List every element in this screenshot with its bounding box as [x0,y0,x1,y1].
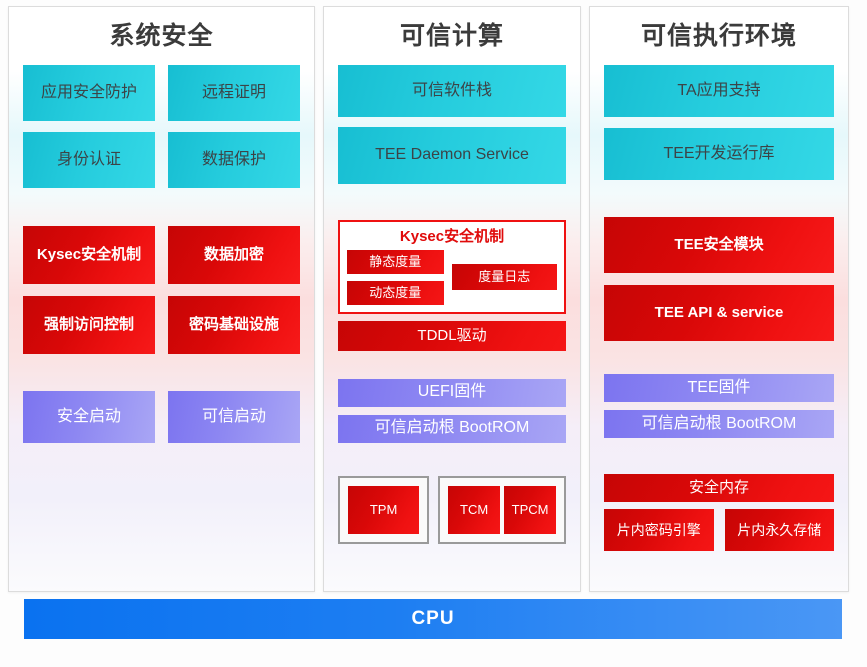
row-boot-layer: 安全启动 可信启动 [23,391,300,443]
block-tee-development-runtime-library[interactable]: TEE开发运行库 [604,128,834,180]
block-cpu[interactable]: CPU [24,599,842,639]
block-ta-application-support[interactable]: TA应用支持 [604,65,834,117]
tee-stack: TA应用支持 TEE开发运行库 TEE安全模块 TEE API & servic… [604,65,834,502]
block-trusted-boot[interactable]: 可信启动 [168,391,300,443]
block-crypto-infrastructure[interactable]: 密码基础设施 [168,296,300,354]
group-tpm: TPM [338,476,429,544]
columns-container: 系统安全 应用安全防护 远程证明 身份认证 数据保护 Kysec安全机制 数据加… [8,6,859,592]
block-static-measurement[interactable]: 静态度量 [347,250,444,274]
block-tpcm[interactable]: TPCM [504,486,556,534]
block-identity-authentication[interactable]: 身份认证 [23,132,155,188]
block-mandatory-access-control[interactable]: 强制访问控制 [23,296,155,354]
row-hardware-trust-modules: TPM TCM TPCM [338,476,566,544]
panel-system-security: 系统安全 应用安全防护 远程证明 身份认证 数据保护 Kysec安全机制 数据加… [8,6,315,592]
panel-trusted-computing: 可信计算 可信软件栈 TEE Daemon Service Kysec安全机制 … [323,6,581,592]
block-onchip-persistent-storage[interactable]: 片内永久存储 [725,509,835,551]
block-secure-memory[interactable]: 安全内存 [604,474,834,502]
row-identity-data-layer: 身份认证 数据保护 [23,132,300,188]
block-trusted-boot-root-bootrom[interactable]: 可信启动根 BootROM [604,410,834,438]
trusted-computing-stack: 可信软件栈 TEE Daemon Service [338,65,566,184]
panel-title-system-security: 系统安全 [23,7,300,59]
block-tee-firmware[interactable]: TEE固件 [604,374,834,402]
row-onchip-modules: 片内密码引擎 片内永久存储 [604,509,834,551]
group-tcm-tpcm: TCM TPCM [438,476,566,544]
block-onchip-crypto-engine[interactable]: 片内密码引擎 [604,509,714,551]
kysec-measure-column: 静态度量 动态度量 [347,250,444,305]
block-dynamic-measurement[interactable]: 动态度量 [347,281,444,305]
row-application-layer: 应用安全防护 远程证明 [23,65,300,121]
kysec-log-column: 度量日志 [452,250,557,305]
row-kysec-encryption-layer: Kysec安全机制 数据加密 [23,226,300,284]
group-kysec-title: Kysec安全机制 [347,227,557,250]
block-data-encryption[interactable]: 数据加密 [168,226,300,284]
architecture-diagram: 系统安全 应用安全防护 远程证明 身份认证 数据保护 Kysec安全机制 数据加… [0,0,867,667]
panel-title-trusted-computing: 可信计算 [338,7,566,59]
group-kysec-security-mechanism: Kysec安全机制 静态度量 动态度量 度量日志 [338,220,566,314]
block-tpm[interactable]: TPM [348,486,419,534]
row-access-control-layer: 强制访问控制 密码基础设施 [23,296,300,354]
block-secure-boot[interactable]: 安全启动 [23,391,155,443]
block-trusted-software-stack[interactable]: 可信软件栈 [338,65,566,117]
block-tee-security-module[interactable]: TEE安全模块 [604,217,834,273]
panel-title-trusted-execution-environment: 可信执行环境 [604,7,834,59]
block-tcm[interactable]: TCM [448,486,500,534]
block-measurement-log[interactable]: 度量日志 [452,264,557,290]
block-tee-daemon-service[interactable]: TEE Daemon Service [338,127,566,184]
block-tee-api-service[interactable]: TEE API & service [604,285,834,341]
block-app-security-protection[interactable]: 应用安全防护 [23,65,155,121]
block-tddl-driver[interactable]: TDDL驱动 [338,321,566,351]
panel-trusted-execution-environment: 可信执行环境 TA应用支持 TEE开发运行库 TEE安全模块 TEE API &… [589,6,849,592]
block-remote-attestation[interactable]: 远程证明 [168,65,300,121]
block-data-protection[interactable]: 数据保护 [168,132,300,188]
block-trusted-boot-root-bootrom[interactable]: 可信启动根 BootROM [338,415,566,443]
block-kysec-security-mechanism[interactable]: Kysec安全机制 [23,226,155,284]
block-uefi-firmware[interactable]: UEFI固件 [338,379,566,407]
group-kysec-items: 静态度量 动态度量 度量日志 [347,250,557,305]
